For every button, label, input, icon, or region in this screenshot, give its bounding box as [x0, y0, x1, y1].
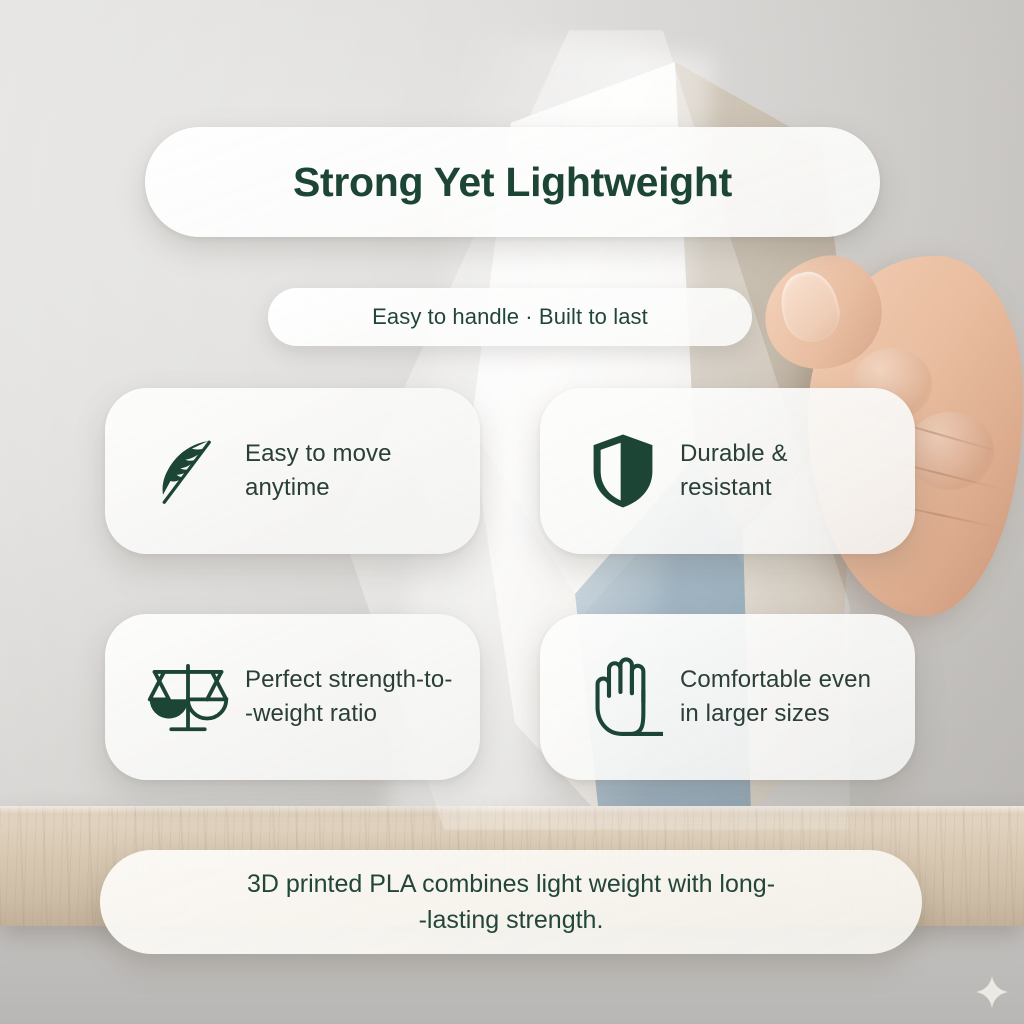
hand-icon: [580, 654, 666, 740]
hand-knuckle: [906, 412, 994, 490]
feature-line-2: anytime: [245, 471, 392, 505]
feature-card-comfortable-larger-sizes: Comfortable even in larger sizes: [540, 614, 915, 780]
footer-line-2: -lasting strength.: [247, 902, 775, 938]
title-pill: Strong Yet Lightweight: [145, 127, 880, 237]
feature-line-1: Perfect strength-to-: [245, 663, 452, 697]
footer-text: 3D printed PLA combines light weight wit…: [247, 866, 775, 939]
feather-icon: [145, 428, 231, 514]
feature-card-text: Perfect strength-to- -weight ratio: [245, 663, 452, 731]
infographic-stage: Strong Yet Lightweight Easy to handle · …: [0, 0, 1024, 1024]
feature-card-text: Comfortable even in larger sizes: [680, 663, 871, 731]
feature-line-2: -weight ratio: [245, 697, 452, 731]
feature-card-text: Durable & resistant: [680, 437, 788, 505]
page-subtitle: Easy to handle · Built to last: [372, 304, 648, 330]
feature-card-easy-to-move: Easy to move anytime: [105, 388, 480, 554]
feature-line-1: Easy to move: [245, 437, 392, 471]
subtitle-pill: Easy to handle · Built to last: [268, 288, 752, 346]
shield-icon: [580, 428, 666, 514]
feature-line-1: Comfortable even: [680, 663, 871, 697]
footer-line-1: 3D printed PLA combines light weight wit…: [247, 866, 775, 902]
page-title: Strong Yet Lightweight: [293, 162, 732, 203]
feature-card-text: Easy to move anytime: [245, 437, 392, 505]
feature-line-2: resistant: [680, 471, 788, 505]
feature-line-1: Durable &: [680, 437, 788, 471]
footer-banner: 3D printed PLA combines light weight wit…: [100, 850, 922, 954]
feature-line-2: in larger sizes: [680, 697, 871, 731]
sparkle-icon: [975, 975, 1009, 1009]
feature-card-strength-to-weight: Perfect strength-to- -weight ratio: [105, 614, 480, 780]
feature-card-durable-resistant: Durable & resistant: [540, 388, 915, 554]
balance-scale-icon: [145, 654, 231, 740]
